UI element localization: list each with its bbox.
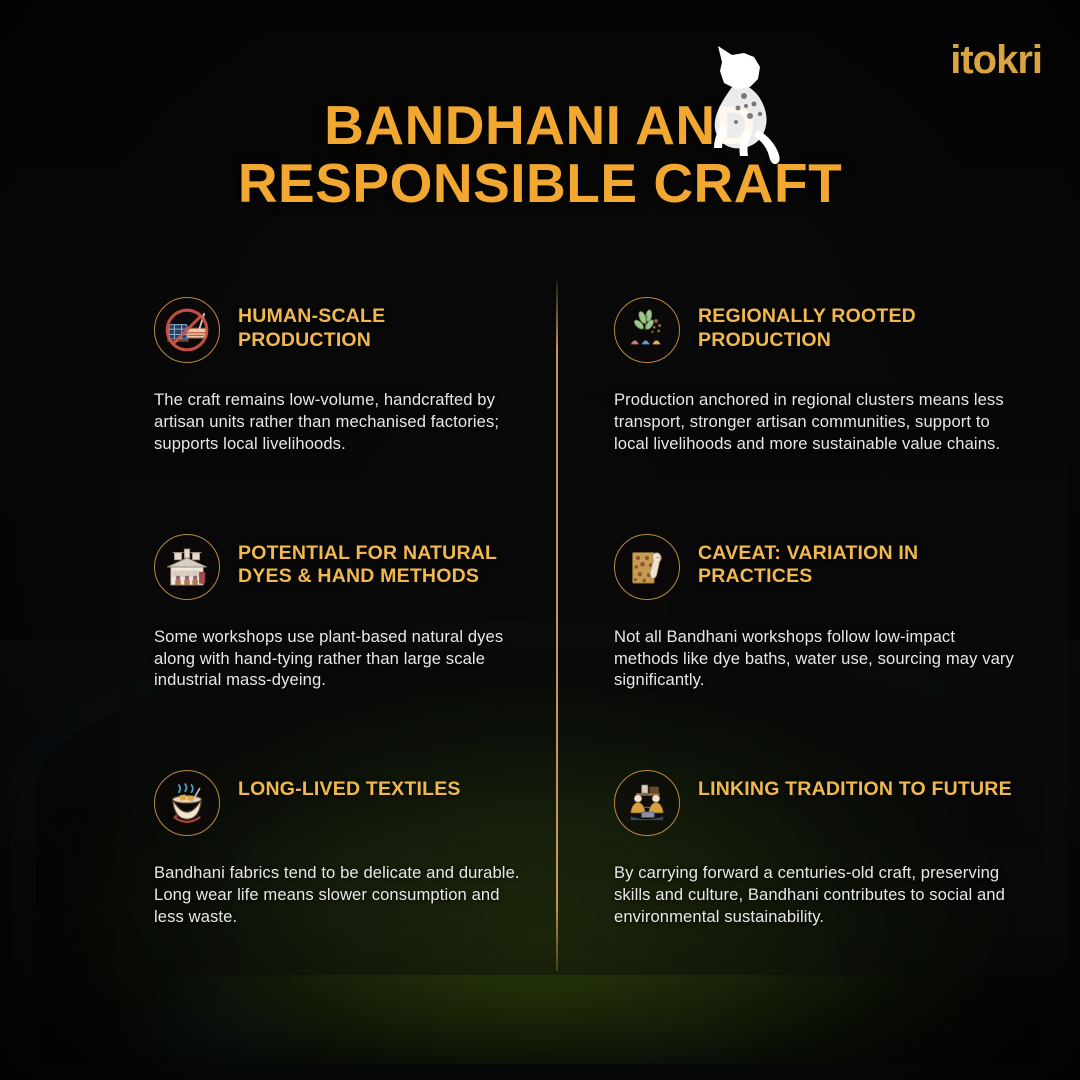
feature-header: POTENTIAL FOR NATURAL DYES & HAND METHOD… [154,530,522,600]
feature-title: REGIONALLY ROOTED PRODUCTION [698,293,1032,353]
feature-card-linking-tradition-to-future: LINKING TRADITION TO FUTURE By carrying … [556,738,1068,975]
no-factory-icon [154,297,220,363]
feature-body: Some workshops use plant-based natural d… [154,626,522,692]
feature-body: Production anchored in regional clusters… [614,389,1024,455]
feature-title: HUMAN-SCALE PRODUCTION [238,293,522,353]
feature-title: LINKING TRADITION TO FUTURE [698,766,1012,802]
feature-header: REGIONALLY ROOTED PRODUCTION [614,293,1032,363]
feature-body: By carrying forward a centuries-old craf… [614,862,1024,928]
feature-header: LONG-LIVED TEXTILES [154,766,522,836]
infographic-canvas: itokri BANDHANI AND RESPONSIBLE CRAFT [0,0,1080,1080]
feature-card-long-lived-textiles: LONG-LIVED TEXTILES Bandhani fabrics ten… [118,738,556,975]
brand-logo: itokri [950,38,1042,83]
steaming-dye-pot-icon [154,770,220,836]
feature-card-human-scale-production: HUMAN-SCALE PRODUCTION The craft remains… [118,265,556,502]
feature-title: LONG-LIVED TEXTILES [238,766,461,802]
brand-logo-text: itokri [950,38,1042,83]
feature-body: The craft remains low-volume, handcrafte… [154,389,522,455]
feature-title: POTENTIAL FOR NATURAL DYES & HAND METHOD… [238,530,522,590]
feature-body: Bandhani fabrics tend to be delicate and… [154,862,522,928]
feature-card-regionally-rooted-production: REGIONALLY ROOTED PRODUCTION Production … [556,265,1068,502]
cat-mark-icon [692,44,802,164]
feature-card-caveat-variation-in-practices: CAVEAT: VARIATION IN PRACTICES Not all B… [556,502,1068,739]
feature-grid: HUMAN-SCALE PRODUCTION The craft remains… [118,265,1068,975]
hand-holding-bandhani-fabric-icon [614,534,680,600]
content-panel: HUMAN-SCALE PRODUCTION The craft remains… [118,265,1068,975]
feature-header: LINKING TRADITION TO FUTURE [614,766,1032,836]
page-title-line-2: RESPONSIBLE CRAFT [0,154,1080,212]
feature-body: Not all Bandhani workshops follow low-im… [614,626,1024,692]
feature-card-natural-dyes-hand-methods: POTENTIAL FOR NATURAL DYES & HAND METHOD… [118,502,556,739]
artisan-workshop-building-icon [154,534,220,600]
page-title: BANDHANI AND RESPONSIBLE CRAFT [0,96,1080,213]
page-title-line-1: BANDHANI AND [0,96,1080,154]
plant-dye-pigments-icon [614,297,680,363]
feature-header: CAVEAT: VARIATION IN PRACTICES [614,530,1032,600]
feature-title: CAVEAT: VARIATION IN PRACTICES [698,530,1032,590]
feature-header: HUMAN-SCALE PRODUCTION [154,293,522,363]
two-artisans-icon [614,770,680,836]
